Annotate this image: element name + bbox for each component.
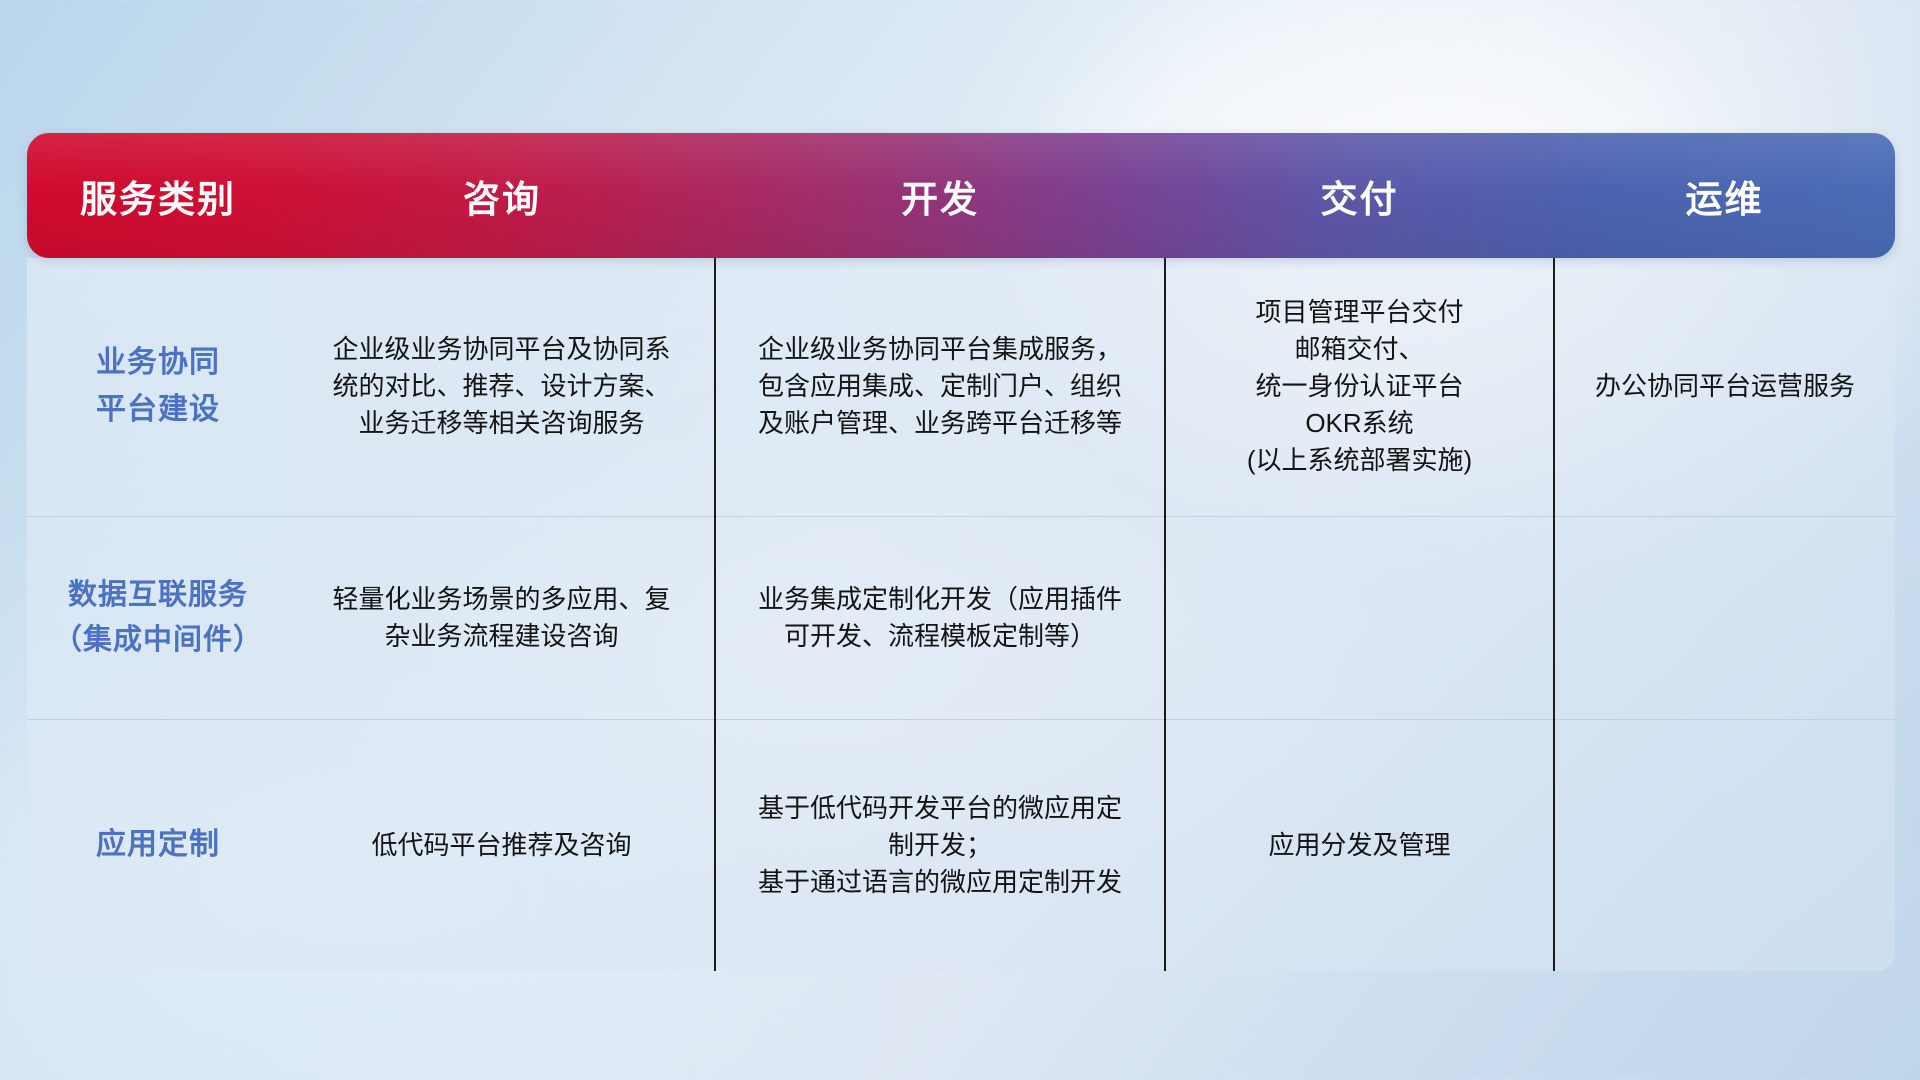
- cell-development: 基于低代码开发平台的微应用定 制开发； 基于通过语言的微应用定制开发: [715, 719, 1165, 971]
- text-line: 低代码平台推荐及咨询: [289, 827, 714, 864]
- text-line: 数据互联服务: [27, 573, 289, 618]
- column-header-development[interactable]: 开发: [715, 133, 1165, 258]
- text-line: 邮箱交付、: [1166, 331, 1553, 368]
- text-line: 项目管理平台交付: [1166, 294, 1553, 331]
- header-row: 服务类别 咨询 开发 交付 运维: [27, 133, 1895, 258]
- cell-category: 应用定制: [27, 719, 289, 971]
- text-line: 制开发；: [716, 827, 1164, 864]
- cell-operations: 办公协同平台运营服务: [1554, 258, 1895, 516]
- text-line: 基于低代码开发平台的微应用定: [716, 790, 1164, 827]
- text-line: 基于通过语言的微应用定制开发: [716, 864, 1164, 901]
- header-label-operations: 运维: [1686, 179, 1764, 220]
- cell-category: 数据互联服务 （集成中间件）: [27, 516, 289, 719]
- text-line: (以上系统部署实施): [1166, 442, 1553, 479]
- table-body: 业务协同 平台建设 企业级业务协同平台及协同系 统的对比、推荐、设计方案、 业务…: [27, 258, 1895, 971]
- text-line: 及账户管理、业务跨平台迁移等: [716, 405, 1164, 442]
- text-line: 企业级业务协同平台及协同系: [289, 331, 714, 368]
- cell-delivery: [1165, 516, 1554, 719]
- cell-development: 企业级业务协同平台集成服务， 包含应用集成、定制门户、组织 及账户管理、业务跨平…: [715, 258, 1165, 516]
- cell-operations: [1554, 719, 1895, 971]
- column-header-consulting[interactable]: 咨询: [289, 133, 715, 258]
- text-line: 杂业务流程建设咨询: [289, 618, 714, 655]
- table-row: 业务协同 平台建设 企业级业务协同平台及协同系 统的对比、推荐、设计方案、 业务…: [27, 258, 1895, 516]
- cell-operations: [1554, 516, 1895, 719]
- table-row: 数据互联服务 （集成中间件） 轻量化业务场景的多应用、复 杂业务流程建设咨询 业…: [27, 516, 1895, 719]
- cell-delivery: 应用分发及管理: [1165, 719, 1554, 971]
- header-label-delivery: 交付: [1321, 179, 1399, 220]
- text-line: （集成中间件）: [27, 618, 289, 663]
- text-line: OKR系统: [1166, 405, 1553, 442]
- text-line: 包含应用集成、定制门户、组织: [716, 368, 1164, 405]
- table-header: 服务类别 咨询 开发 交付 运维: [27, 133, 1895, 258]
- text-line: 业务协同: [27, 340, 289, 387]
- text-line: 办公协同平台运营服务: [1555, 368, 1895, 405]
- text-line: 统一身份认证平台: [1166, 368, 1553, 405]
- text-line: 统的对比、推荐、设计方案、: [289, 368, 714, 405]
- column-header-delivery[interactable]: 交付: [1165, 133, 1554, 258]
- column-header-category[interactable]: 服务类别: [27, 133, 289, 258]
- text-line: 应用分发及管理: [1166, 827, 1553, 864]
- header-label-development: 开发: [901, 179, 979, 220]
- cell-category: 业务协同 平台建设: [27, 258, 289, 516]
- header-label-consulting: 咨询: [463, 179, 541, 220]
- service-matrix: 服务类别 咨询 开发 交付 运维: [27, 133, 1895, 971]
- cell-consulting: 低代码平台推荐及咨询: [289, 719, 715, 971]
- table-row: 应用定制 低代码平台推荐及咨询 基于低代码开发平台的微应用定 制开发； 基于通过…: [27, 719, 1895, 971]
- text-line: 业务集成定制化开发（应用插件: [716, 581, 1164, 618]
- text-line: 应用定制: [27, 822, 289, 869]
- text-line: 可开发、流程模板定制等）: [716, 618, 1164, 655]
- text-line: 平台建设: [27, 387, 289, 434]
- text-line: 轻量化业务场景的多应用、复: [289, 581, 714, 618]
- header-label-category: 服务类别: [80, 179, 236, 220]
- slide-canvas: 服务类别 咨询 开发 交付 运维: [0, 0, 1920, 1080]
- column-header-operations[interactable]: 运维: [1554, 133, 1895, 258]
- service-category-table: 服务类别 咨询 开发 交付 运维: [27, 133, 1895, 971]
- text-line: 业务迁移等相关咨询服务: [289, 405, 714, 442]
- cell-development: 业务集成定制化开发（应用插件 可开发、流程模板定制等）: [715, 516, 1165, 719]
- cell-consulting: 企业级业务协同平台及协同系 统的对比、推荐、设计方案、 业务迁移等相关咨询服务: [289, 258, 715, 516]
- cell-delivery: 项目管理平台交付 邮箱交付、 统一身份认证平台 OKR系统 (以上系统部署实施): [1165, 258, 1554, 516]
- cell-consulting: 轻量化业务场景的多应用、复 杂业务流程建设咨询: [289, 516, 715, 719]
- text-line: 企业级业务协同平台集成服务，: [716, 331, 1164, 368]
